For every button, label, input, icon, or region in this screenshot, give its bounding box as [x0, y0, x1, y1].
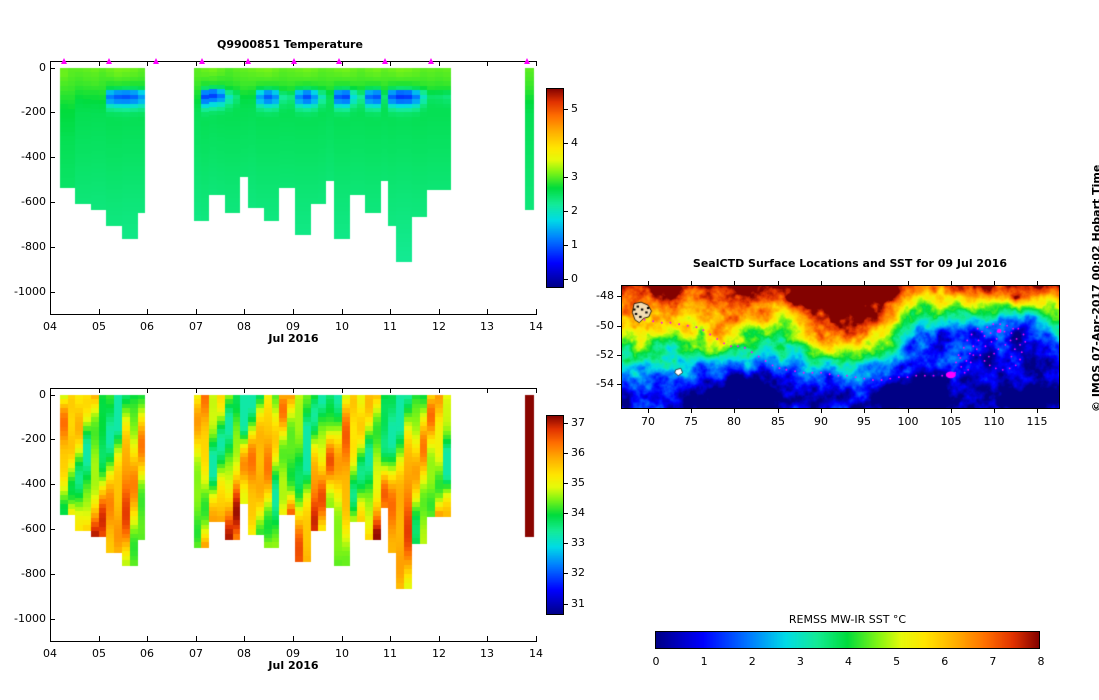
x-tick	[50, 636, 51, 641]
sst-colorbar-panel: REMSS MW-IR SST °C 012345678	[600, 605, 1070, 675]
surface-location-marker	[153, 58, 159, 64]
map-y-tick-label: -52	[582, 348, 614, 361]
x-tick	[99, 636, 100, 641]
colorbar-tick-label: 0	[571, 272, 578, 285]
map-x-tick-label: 110	[981, 415, 1007, 428]
y-tick	[50, 574, 55, 575]
y-tick-label: -400	[4, 477, 46, 490]
map-y-tick-label: -54	[582, 377, 614, 390]
map-x-tick-label: 115	[1024, 415, 1050, 428]
map-y-tick	[617, 326, 622, 327]
x-tick-top	[293, 388, 294, 393]
x-tick	[147, 636, 148, 641]
map-x-tick	[864, 408, 865, 413]
x-tick	[487, 636, 488, 641]
x-tick-top	[147, 388, 148, 393]
x-tick-top	[487, 61, 488, 66]
x-tick	[439, 636, 440, 641]
salinity-colorbar-ticks: 31323334353637	[564, 415, 600, 615]
map-y-tick-label: -50	[582, 319, 614, 332]
map-x-tick-label: 95	[851, 415, 877, 428]
y-axis-spine	[50, 61, 51, 314]
map-x-tick	[908, 408, 909, 413]
surface-location-marker	[106, 58, 112, 64]
y-tick-label: -1000	[4, 285, 46, 298]
y-tick	[50, 68, 55, 69]
map-x-tick	[821, 408, 822, 413]
x-tick	[147, 309, 148, 314]
x-tick-top	[487, 388, 488, 393]
map-frame	[621, 285, 1060, 409]
map-x-tick-label: 85	[765, 415, 791, 428]
sst-colorbar-label: REMSS MW-IR SST °C	[655, 613, 1040, 626]
sst-colorbar-tick-label: 1	[698, 655, 710, 668]
surface-location-marker	[61, 58, 67, 64]
temperature-axes: 04050607080910111213140-200-400-600-800-…	[50, 61, 537, 314]
colorbar-tick-label: 2	[571, 204, 578, 217]
colorbar-tick-label: 34	[571, 506, 585, 519]
map-x-tick	[951, 408, 952, 413]
map-x-tick-label: 80	[721, 415, 747, 428]
y-tick-label: -800	[4, 240, 46, 253]
x-tick-top	[50, 388, 51, 393]
map-x-tick-top	[821, 281, 822, 286]
y-tick	[50, 619, 55, 620]
sst-colorbar-tick-label: 5	[891, 655, 903, 668]
map-y-tick	[617, 384, 622, 385]
sst-map-title: SealCTD Surface Locations and SST for 09…	[620, 257, 1080, 270]
copyright-text: © IMOS 07-Apr-2017 00:02 Hobart Time	[1090, 165, 1099, 412]
y-tick-label: -600	[4, 522, 46, 535]
map-x-tick-top	[778, 281, 779, 286]
y-tick-label: -800	[4, 567, 46, 580]
x-tick-top	[244, 388, 245, 393]
map-x-tick-top	[734, 281, 735, 286]
map-x-tick-label: 75	[678, 415, 704, 428]
sst-colorbar-tick-label: 8	[1035, 655, 1047, 668]
colorbar-tick-label: 1	[571, 238, 578, 251]
surface-location-marker	[336, 58, 342, 64]
colorbar-tick	[564, 483, 568, 484]
map-x-tick-top	[691, 281, 692, 286]
map-x-tick-top	[908, 281, 909, 286]
map-y-tick	[617, 296, 622, 297]
y-tick	[50, 395, 55, 396]
map-x-tick-label: 105	[938, 415, 964, 428]
x-tick	[342, 636, 343, 641]
map-x-tick-label: 70	[635, 415, 661, 428]
map-y-tick	[617, 355, 622, 356]
x-tick-top	[99, 61, 100, 66]
x-tick-top	[196, 388, 197, 393]
colorbar-tick-label: 33	[571, 536, 585, 549]
sst-colorbar-tick-label: 4	[843, 655, 855, 668]
colorbar-tick-label: 4	[571, 136, 578, 149]
y-tick-label: -200	[4, 105, 46, 118]
surface-location-marker	[524, 58, 530, 64]
y-tick-label: -1000	[4, 612, 46, 625]
sst-colorbar-tick-label: 6	[939, 655, 951, 668]
x-tick	[244, 636, 245, 641]
x-tick	[342, 309, 343, 314]
surface-location-marker	[382, 58, 388, 64]
colorbar-tick	[564, 453, 568, 454]
surface-location-marker	[428, 58, 434, 64]
y-tick-label: 0	[4, 61, 46, 74]
map-x-tick	[1037, 408, 1038, 413]
sst-map-axes: 707580859095100105110115-48-50-52-54	[622, 286, 1059, 408]
colorbar-tick-label: 5	[571, 102, 578, 115]
y-axis-spine	[50, 388, 51, 641]
temperature-panel: Q9900851 Temperature 0405060708091011121…	[0, 0, 600, 350]
colorbar-tick-label: 32	[571, 566, 585, 579]
sst-colorbar-tick-label: 2	[746, 655, 758, 668]
map-x-tick-label: 90	[808, 415, 834, 428]
y-tick	[50, 202, 55, 203]
x-tick	[99, 309, 100, 314]
x-axis-spine	[50, 314, 537, 315]
colorbar-tick	[564, 573, 568, 574]
x-tick	[390, 636, 391, 641]
map-x-tick-top	[1037, 281, 1038, 286]
colorbar-tick	[564, 211, 568, 212]
y-tick-label: 0	[4, 388, 46, 401]
colorbar-tick	[564, 279, 568, 280]
colorbar-tick	[564, 109, 568, 110]
map-x-tick	[734, 408, 735, 413]
map-x-tick-label: 100	[895, 415, 921, 428]
colorbar-tick	[564, 245, 568, 246]
map-x-tick	[778, 408, 779, 413]
surface-location-marker	[291, 58, 297, 64]
colorbar-tick	[564, 543, 568, 544]
x-tick-top	[439, 388, 440, 393]
y-tick-label: -200	[4, 432, 46, 445]
surface-location-marker	[245, 58, 251, 64]
x-tick	[390, 309, 391, 314]
x-tick	[487, 309, 488, 314]
map-x-tick-top	[864, 281, 865, 286]
y-tick	[50, 247, 55, 248]
y-tick	[50, 439, 55, 440]
x-tick	[293, 309, 294, 314]
temperature-xlabel: Jul 2016	[50, 332, 537, 345]
salinity-xlabel: Jul 2016	[50, 659, 537, 672]
x-tick	[439, 309, 440, 314]
x-tick	[293, 636, 294, 641]
sst-colorbar-ticks: 012345678	[655, 649, 1040, 673]
map-x-tick-top	[951, 281, 952, 286]
x-tick	[244, 309, 245, 314]
temperature-colorbar-ticks: 012345	[564, 88, 600, 288]
sst-colorbar-frame	[655, 631, 1040, 649]
x-tick-top	[342, 388, 343, 393]
x-tick-top	[196, 61, 197, 66]
sst-colorbar-tick-label: 0	[650, 655, 662, 668]
map-x-tick-top	[994, 281, 995, 286]
x-tick-top	[390, 61, 391, 66]
x-tick-top	[147, 61, 148, 66]
map-x-tick	[691, 408, 692, 413]
y-tick	[50, 157, 55, 158]
y-tick	[50, 292, 55, 293]
colorbar-tick	[564, 423, 568, 424]
salinity-axes: 04050607080910111213140-200-400-600-800-…	[50, 388, 537, 641]
map-x-tick	[648, 408, 649, 413]
colorbar-tick	[564, 604, 568, 605]
temperature-colorbar-frame	[546, 88, 564, 288]
x-tick	[196, 309, 197, 314]
sst-colorbar-tick-label: 3	[794, 655, 806, 668]
x-tick-top	[390, 388, 391, 393]
colorbar-tick-label: 36	[571, 446, 585, 459]
colorbar-tick-label: 3	[571, 170, 578, 183]
temperature-title: Q9900851 Temperature	[50, 38, 530, 51]
map-y-tick-label: -48	[582, 289, 614, 302]
colorbar-tick	[564, 177, 568, 178]
sst-map-panel: SealCTD Surface Locations and SST for 09…	[600, 250, 1099, 450]
salinity-panel: 04050607080910111213140-200-400-600-800-…	[0, 350, 600, 700]
colorbar-tick	[564, 513, 568, 514]
y-tick	[50, 112, 55, 113]
y-tick	[50, 484, 55, 485]
y-tick	[50, 529, 55, 530]
colorbar-tick-label: 31	[571, 597, 585, 610]
x-tick	[536, 636, 537, 641]
sst-colorbar-tick-label: 7	[987, 655, 999, 668]
x-tick	[536, 309, 537, 314]
x-tick-top	[50, 61, 51, 66]
colorbar-tick-label: 37	[571, 416, 585, 429]
x-tick	[50, 309, 51, 314]
y-tick-label: -400	[4, 150, 46, 163]
x-tick	[196, 636, 197, 641]
x-tick-top	[536, 61, 537, 66]
surface-location-marker	[199, 58, 205, 64]
y-tick-label: -600	[4, 195, 46, 208]
x-tick-top	[439, 61, 440, 66]
x-axis-spine	[50, 641, 537, 642]
map-x-tick	[994, 408, 995, 413]
salinity-colorbar-frame	[546, 415, 564, 615]
colorbar-tick	[564, 143, 568, 144]
x-tick-top	[99, 388, 100, 393]
map-x-tick-top	[648, 281, 649, 286]
colorbar-tick-label: 35	[571, 476, 585, 489]
x-tick-top	[536, 388, 537, 393]
